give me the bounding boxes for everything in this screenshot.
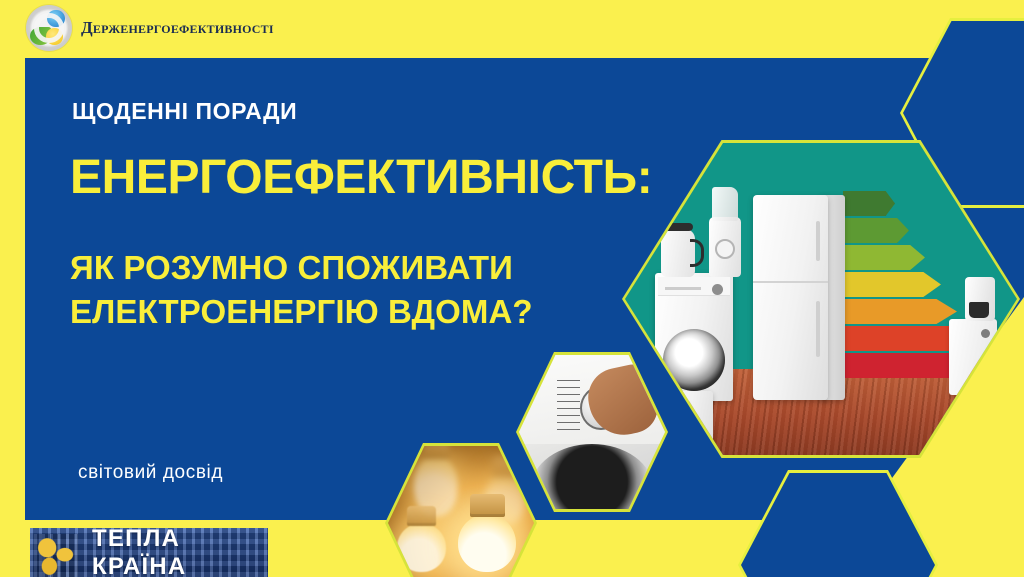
energy-arrow-b	[843, 218, 909, 243]
electric-kettle-icon	[661, 229, 695, 277]
subtitle-line-1: ЯК РОЗУМНО СПОЖИВАТИ	[70, 246, 533, 290]
teplа-kraina-badge[interactable]: ТЕПЛА КРАЇНА	[30, 528, 268, 577]
fridge-door-split	[753, 281, 828, 283]
photo-clip	[519, 355, 665, 509]
refrigerator-icon	[753, 195, 828, 400]
badge-label: ТЕПЛА КРАЇНА	[92, 528, 268, 577]
fridge-handle-lower	[816, 301, 820, 357]
washer-drum	[663, 329, 725, 391]
swirl-globe-icon	[26, 5, 72, 51]
bulb-base	[407, 506, 437, 526]
hexagon-outline-fill	[741, 473, 935, 577]
washer-knob-icon	[712, 284, 723, 295]
energy-arrow-e	[843, 299, 957, 324]
side-appliance-unit	[949, 319, 997, 395]
photo-clip	[625, 143, 1017, 455]
wheat-ornament-icon	[34, 534, 78, 577]
subtitle-line-2: ЕЛЕКТРОЕНЕРГІЮ ВДОМА?	[70, 290, 533, 334]
energy-arrow-d	[843, 272, 941, 297]
energy-arrow-a	[843, 191, 895, 216]
light-bulb-icon	[458, 514, 516, 573]
light-bulb-icon	[397, 523, 447, 572]
washer-display	[665, 287, 701, 290]
bulb-base	[423, 446, 449, 459]
page-title: ЕНЕРГОЕФЕКТИВНІСТЬ:	[70, 154, 652, 202]
photo-led-bulbs	[385, 443, 537, 577]
subtitle: ЯК РОЗУМНО СПОЖИВАТИ ЕЛЕКТРОЕНЕРГІЮ ВДОМ…	[70, 246, 533, 333]
blender-jar	[712, 187, 738, 221]
bulb-scene	[388, 446, 534, 577]
dial-scene	[519, 355, 665, 509]
program-scale-marks	[557, 380, 580, 432]
washer-control-panel	[658, 277, 730, 296]
energy-efficiency-poster: Держенергоефективності ЩОДЕННІ ПОРАДИ ЕН…	[0, 0, 1024, 577]
side-unit-knob-icon	[981, 329, 990, 338]
footnote-text: світовий досвід	[78, 462, 223, 484]
blender-icon	[709, 217, 741, 277]
coffee-maker-icon	[965, 277, 995, 321]
eyebrow-text: ЩОДЕННІ ПОРАДИ	[72, 98, 297, 125]
fridge-handle-upper	[816, 221, 820, 261]
brand-lockup[interactable]: Держенергоефективності	[26, 4, 274, 52]
brand-name: Держенергоефективності	[81, 18, 274, 38]
photo-appliances-energy-rating	[622, 140, 1020, 458]
energy-arrow-c	[843, 245, 925, 270]
bulb-base	[470, 494, 505, 517]
photo-clip	[388, 446, 534, 577]
appliance-scene	[625, 143, 1017, 455]
photo-hand-on-dial	[516, 352, 668, 512]
logo-ring	[34, 13, 63, 42]
coffee-pot	[969, 302, 989, 318]
decorative-hexagon-outline-bottom	[738, 470, 938, 577]
blender-dial-icon	[715, 239, 735, 259]
